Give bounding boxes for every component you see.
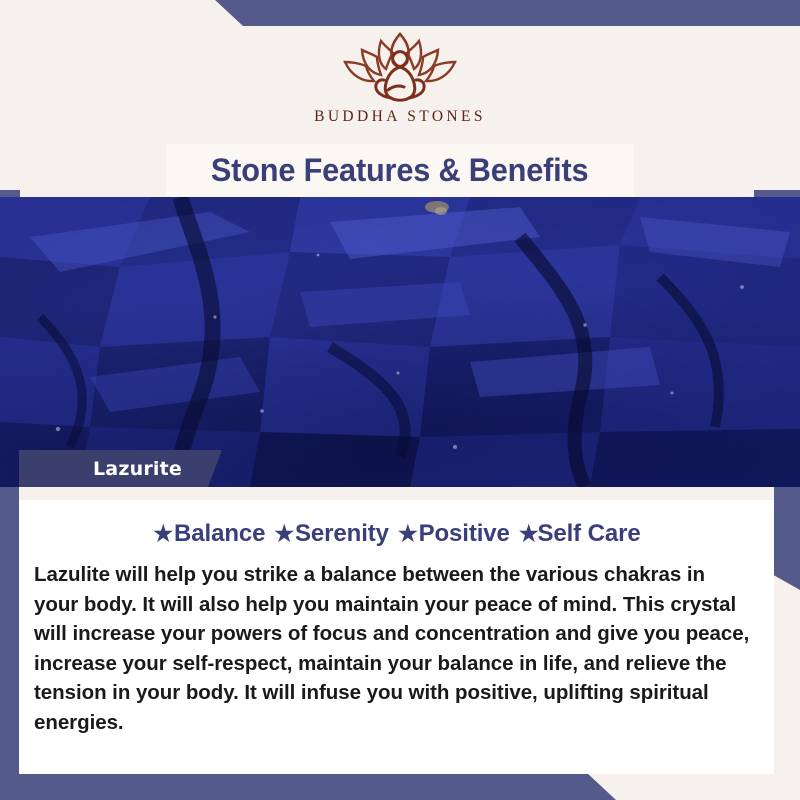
stone-info-poster: BUDDHA STONES Stone Features & Benefits: [0, 0, 800, 800]
keyword-list: ★Balance★Serenity★Positive★Self Care: [19, 520, 774, 548]
stone-description: Lazulite will help you strike a balance …: [34, 560, 750, 737]
left-accent-strip: [0, 486, 19, 774]
content-card: ★Balance★Serenity★Positive★Self Care Laz…: [19, 487, 774, 774]
stone-name: Lazurite: [93, 458, 182, 480]
brand-name: BUDDHA STONES: [314, 108, 486, 126]
stone-photo: [0, 197, 800, 487]
stone-name-banner: Lazurite: [19, 450, 222, 487]
keyword-balance: Balance: [174, 520, 265, 547]
page-title: Stone Features & Benefits: [211, 152, 589, 189]
title-banner: Stone Features & Benefits: [166, 144, 634, 197]
card-top-strip: [19, 487, 774, 500]
star-icon: ★: [274, 521, 294, 546]
brand-header: BUDDHA STONES: [0, 26, 800, 140]
lotus-meditation-icon: [315, 28, 485, 106]
keyword-self-care: Self Care: [537, 520, 640, 547]
top-accent-band: [0, 0, 800, 26]
bottom-accent-band: [0, 773, 800, 800]
keyword-positive: Positive: [419, 520, 510, 547]
star-icon: ★: [153, 521, 173, 546]
keyword-serenity: Serenity: [295, 520, 389, 547]
star-icon: ★: [519, 521, 539, 546]
star-icon: ★: [398, 521, 418, 546]
